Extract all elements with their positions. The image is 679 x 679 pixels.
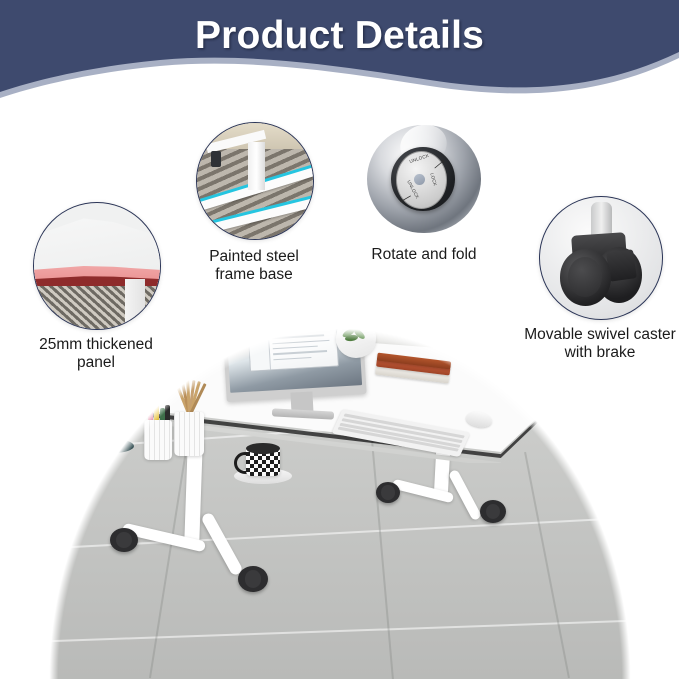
product-details-infographic: Product Details <box>0 0 679 679</box>
frame-vertical-column <box>248 142 265 191</box>
caster-wheel <box>238 566 268 592</box>
panel-side-face <box>125 279 145 330</box>
header-banner: Product Details <box>0 0 679 110</box>
caster-wheel-front <box>560 249 611 305</box>
knob-center-cap <box>414 174 425 185</box>
caster-wheel <box>110 528 138 552</box>
callout-rotate-fold: UNLOCK LOCK UNLOCK ⟶ ⟶ Rotate and fold <box>365 120 483 238</box>
callout-label-rotate-fold: Rotate and fold <box>336 246 512 264</box>
rotate-arrow-icon: ⟶ <box>397 191 413 205</box>
screen-window <box>247 319 339 371</box>
callout-label-swivel-caster: Movable swivel caster with brake <box>493 326 679 362</box>
mug-rim <box>246 443 280 454</box>
pencils-group <box>176 378 204 416</box>
page-title: Product Details <box>0 14 679 58</box>
callout-thickened-panel: 25mm thickened panel <box>33 202 161 330</box>
callout-steel-frame: Painted steel frame base <box>196 122 314 240</box>
callout-bubble-frame <box>196 122 314 240</box>
callout-bubble-panel <box>33 202 161 330</box>
callout-swivel-caster: Movable swivel caster with brake <box>539 196 663 320</box>
callout-bubble-knob: UNLOCK LOCK UNLOCK ⟶ ⟶ <box>365 120 483 238</box>
knob-lock-label: LOCK <box>430 172 438 186</box>
caster-brake-lever <box>606 249 637 282</box>
caster-wheel <box>376 482 400 503</box>
lamp-stem <box>107 388 117 443</box>
frame-bracket <box>211 151 221 167</box>
callout-label-steel-frame: Painted steel frame base <box>158 248 350 284</box>
knob-unlock-top-label: UNLOCK <box>408 153 429 164</box>
pencil-cup <box>174 412 204 456</box>
screen-window-sidebar <box>248 324 271 370</box>
callout-bubble-caster <box>539 196 663 320</box>
caster-wheel <box>480 500 506 523</box>
lock-dial: UNLOCK LOCK UNLOCK ⟶ ⟶ <box>396 151 448 210</box>
marker-cup <box>144 420 172 460</box>
callout-label-thickened-panel: 25mm thickened panel <box>3 336 189 372</box>
succulent-plant <box>340 322 366 342</box>
